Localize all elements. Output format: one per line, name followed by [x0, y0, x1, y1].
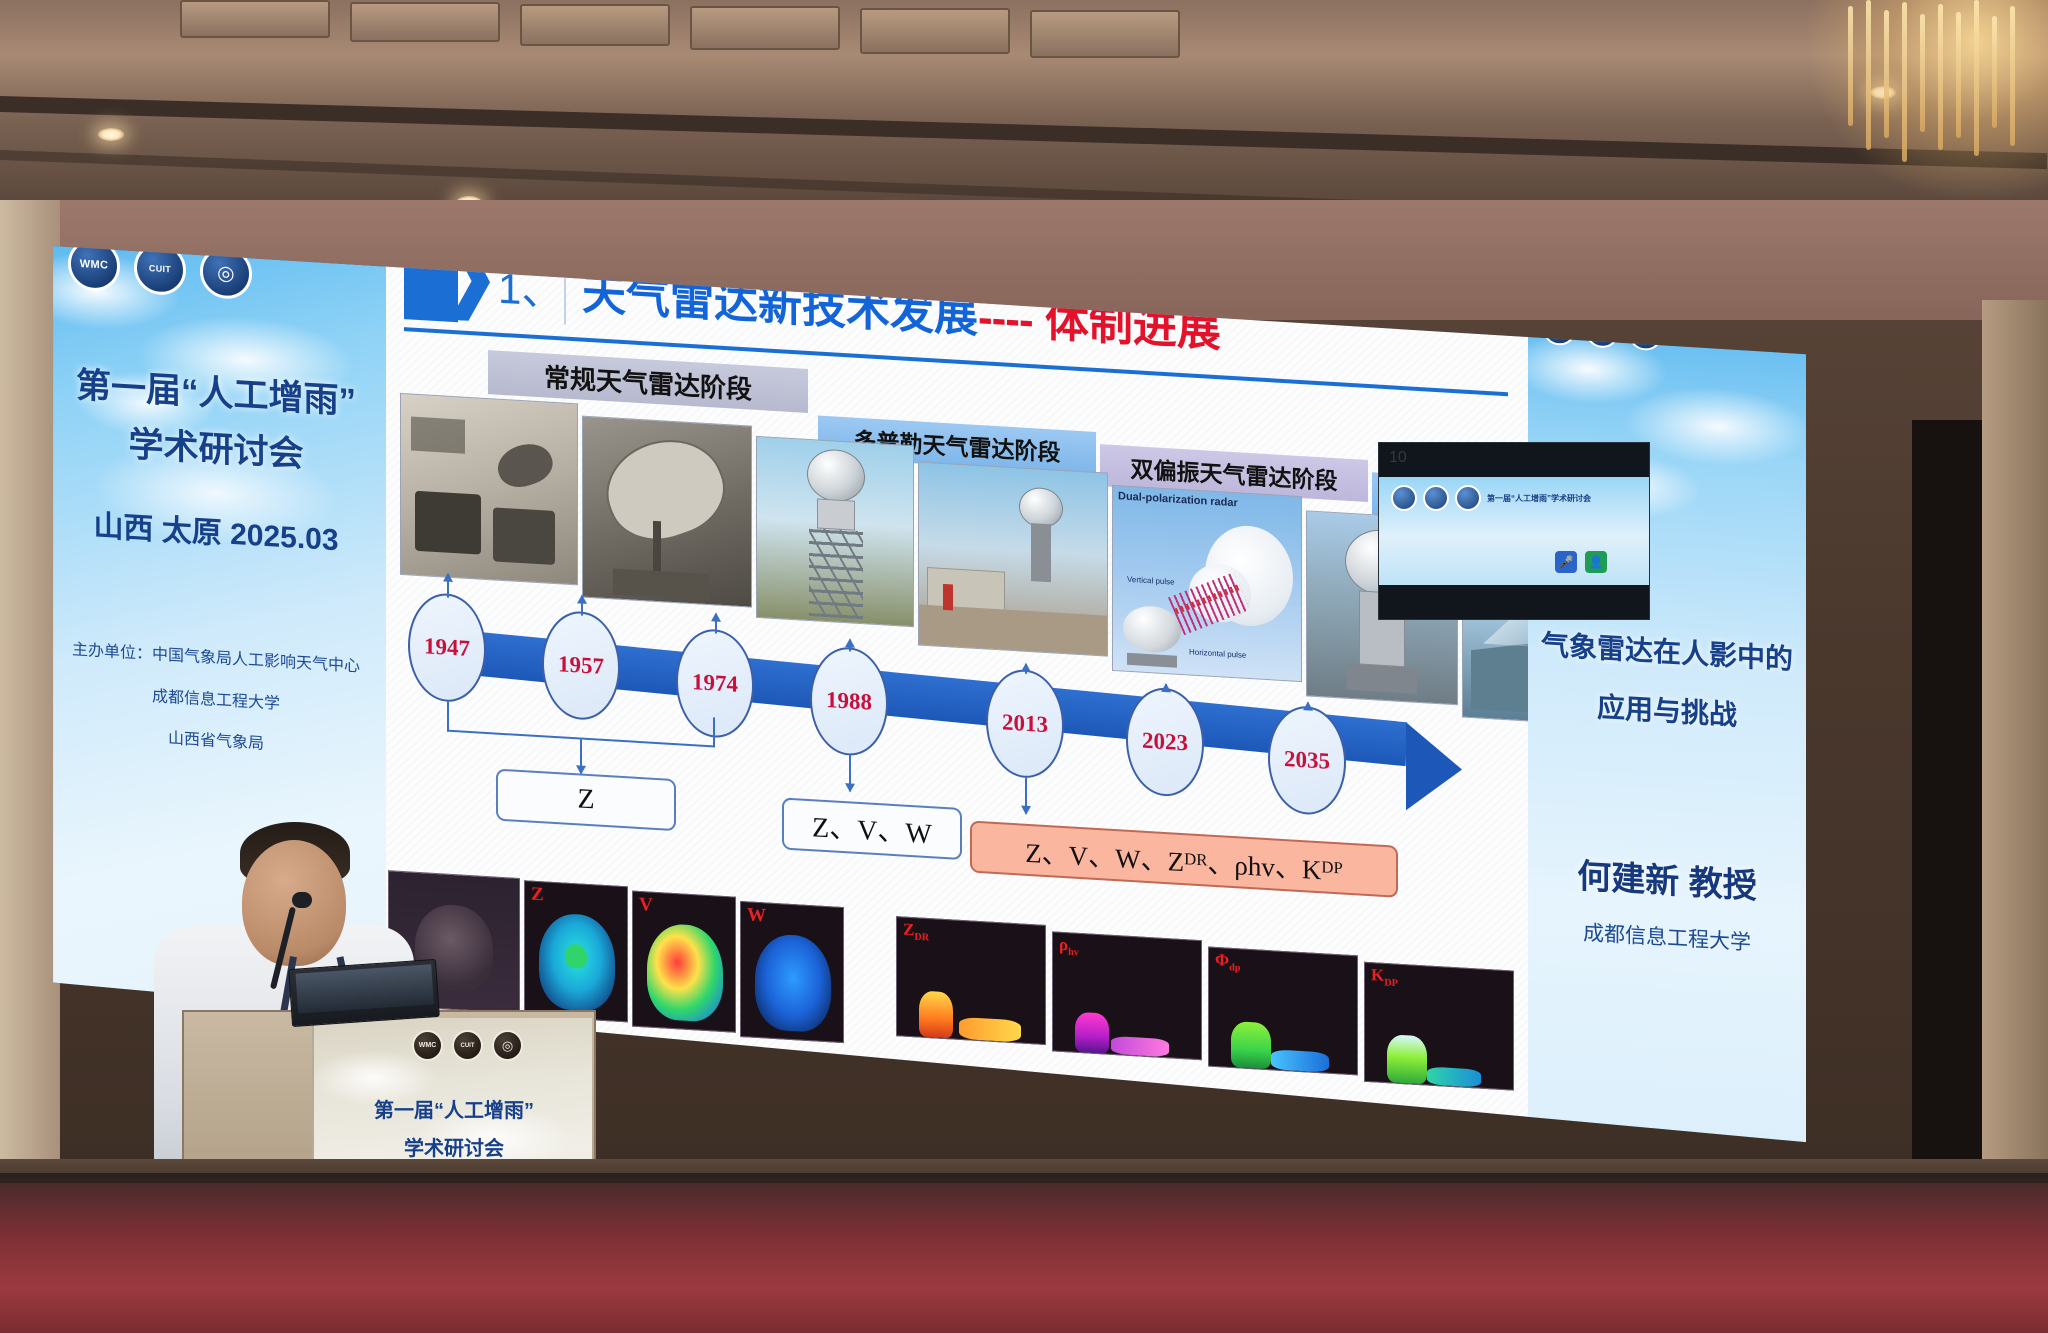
ppi-z: Z — [524, 880, 628, 1022]
param-dualpol-sub2: DP — [1321, 857, 1342, 878]
ceiling-panel — [1030, 10, 1180, 58]
right-banner-speaker: 何建新 教授 — [1528, 845, 1806, 910]
right-banner-affiliation: 成都信息工程大学 — [1528, 913, 1806, 959]
wmc-logo — [1391, 485, 1417, 511]
slide-title-dash: ---- — [978, 293, 1033, 345]
connector-1974 — [715, 613, 717, 633]
overlay-page-number: 10 — [1389, 449, 1407, 467]
left-banner-organizers: 主办单位：中国气象局人工影响天气中心 成都信息工程大学 山西省气象局 — [46, 628, 386, 773]
horizontal-pulse-annotation: Horizontal pulse — [1189, 647, 1246, 659]
connector-2013-down — [1025, 778, 1027, 814]
param-dualpol-b: 、ρhv、K — [1207, 841, 1321, 887]
param-dualpol-sub1: DR — [1184, 849, 1207, 870]
connector-1988 — [849, 639, 851, 651]
footer-label-dualpol: 双偏振参量 — [1076, 1097, 1206, 1142]
connector-1947 — [447, 574, 449, 598]
photo-wsr88d-site — [918, 461, 1108, 656]
chevron-icon — [404, 235, 486, 324]
overlay-logo-group: 第一届“人工增雨”学术研讨会 — [1391, 485, 1591, 511]
photo-dualpol-diagram: Dual-polarization radar Vertical pulse H… — [1112, 485, 1302, 682]
connector-2013 — [1025, 664, 1027, 674]
downlight — [98, 128, 124, 141]
doorway-frame — [1982, 300, 2048, 1200]
slide-section-number: 1、 — [498, 255, 563, 320]
ppi-phidp: Φdp — [1208, 947, 1358, 1076]
right-banner-panel: 第一届“人工增雨”学术研讨会 气象雷达在人影中的 应用与挑战 何建新 教授 成都… — [1528, 285, 1806, 1240]
dualpol-caption: Dual-polarization radar — [1118, 490, 1238, 509]
left-banner-title: 第一届“人工增雨” 学术研讨会 — [46, 356, 386, 488]
spiral-logo — [1628, 315, 1662, 351]
photo-parabolic-dish — [582, 416, 752, 608]
slide-title-sub: 体制进展 — [1045, 297, 1221, 356]
parameter-box-zvw: Z、V、W — [782, 797, 962, 860]
connector-1957 — [581, 596, 583, 616]
spiral-logo: ◎ — [492, 1030, 523, 1061]
timeline-arrowhead — [1406, 722, 1462, 813]
participants-button[interactable]: 👤 — [1585, 551, 1607, 573]
spiral-logo: ◎ — [200, 245, 252, 300]
wmc-logo: WMC — [412, 1030, 443, 1061]
conference-photo-scene: WMC CUIT ◎ 第一届“人工增雨” 学术研讨会 山西 太原 2025.03… — [0, 0, 2048, 1333]
ceiling-panel — [860, 8, 1010, 54]
cuit-logo: CUIT — [452, 1030, 483, 1061]
title-divider — [564, 251, 566, 325]
footer-label-doppler: 多普勒参量 — [636, 1055, 766, 1100]
ceiling-panel — [350, 2, 500, 42]
ppi-label-rhohv: ρhv — [1059, 935, 1079, 959]
podium-logo-group: WMC CUIT ◎ — [412, 1030, 523, 1061]
ceiling-panel — [520, 4, 670, 46]
microphone-toggle-button[interactable]: 🎤 — [1555, 551, 1577, 573]
chandelier — [1808, 0, 2048, 200]
ppi-label-z: Z — [531, 884, 544, 907]
ppi-label-zdr: ZDR — [903, 920, 929, 944]
ppi-rhohv: ρhv — [1052, 931, 1202, 1060]
carpet — [0, 1183, 2048, 1333]
ceiling-panel — [180, 0, 330, 38]
overlay-logo-text: 第一届“人工增雨”学术研讨会 — [1487, 493, 1591, 504]
doorway-shadow — [1912, 420, 1982, 1180]
param-dualpol-a: Z、V、W、Z — [1025, 830, 1184, 878]
connector-2035 — [1307, 702, 1309, 710]
ppi-zdr: ZDR — [896, 916, 1046, 1045]
ppi-kdp: KDP — [1364, 962, 1514, 1091]
right-banner-logo-text: 第一届“人工增雨”学术研讨会 — [1671, 327, 1801, 350]
right-banner-title: 气象雷达在人影中的 应用与挑战 — [1528, 615, 1806, 749]
laptop — [288, 959, 440, 1027]
ppi-v: V — [632, 891, 736, 1033]
microphone-head — [292, 892, 312, 908]
ppi-label-kdp: KDP — [1371, 965, 1398, 989]
ppi-label-v: V — [639, 894, 653, 917]
photo-radar-tower — [756, 436, 914, 627]
podium-sign-title: 第一届“人工增雨” 学术研讨会 — [314, 1092, 594, 1168]
cuit-logo: CUIT — [134, 241, 186, 296]
cuit-logo — [1585, 313, 1619, 349]
parameter-box-z: Z — [496, 769, 676, 832]
wmc-logo — [1542, 310, 1576, 346]
vertical-pulse-annotation: Vertical pulse — [1127, 575, 1175, 587]
ppi-label-w: W — [747, 904, 766, 927]
photo-early-radar — [400, 393, 578, 586]
ceiling-panel — [690, 6, 840, 50]
connector-1988-down — [849, 755, 851, 791]
ppi-label-phidp: Φdp — [1215, 950, 1240, 974]
spiral-logo — [1455, 485, 1481, 511]
ppi-w: W — [740, 901, 844, 1043]
banner-logo-group: WMC CUIT ◎ — [68, 237, 252, 300]
cuit-logo — [1423, 485, 1449, 511]
video-call-overlay[interactable]: 10 第一届“人工增雨”学术研讨会 🎤 👤 — [1378, 442, 1650, 620]
brace-stem — [580, 740, 582, 774]
podium-title-line1: 第一届“人工增雨” — [314, 1092, 594, 1130]
laptop-screen — [295, 964, 433, 1013]
connector-2023 — [1165, 684, 1167, 692]
wmc-logo: WMC — [68, 237, 120, 292]
